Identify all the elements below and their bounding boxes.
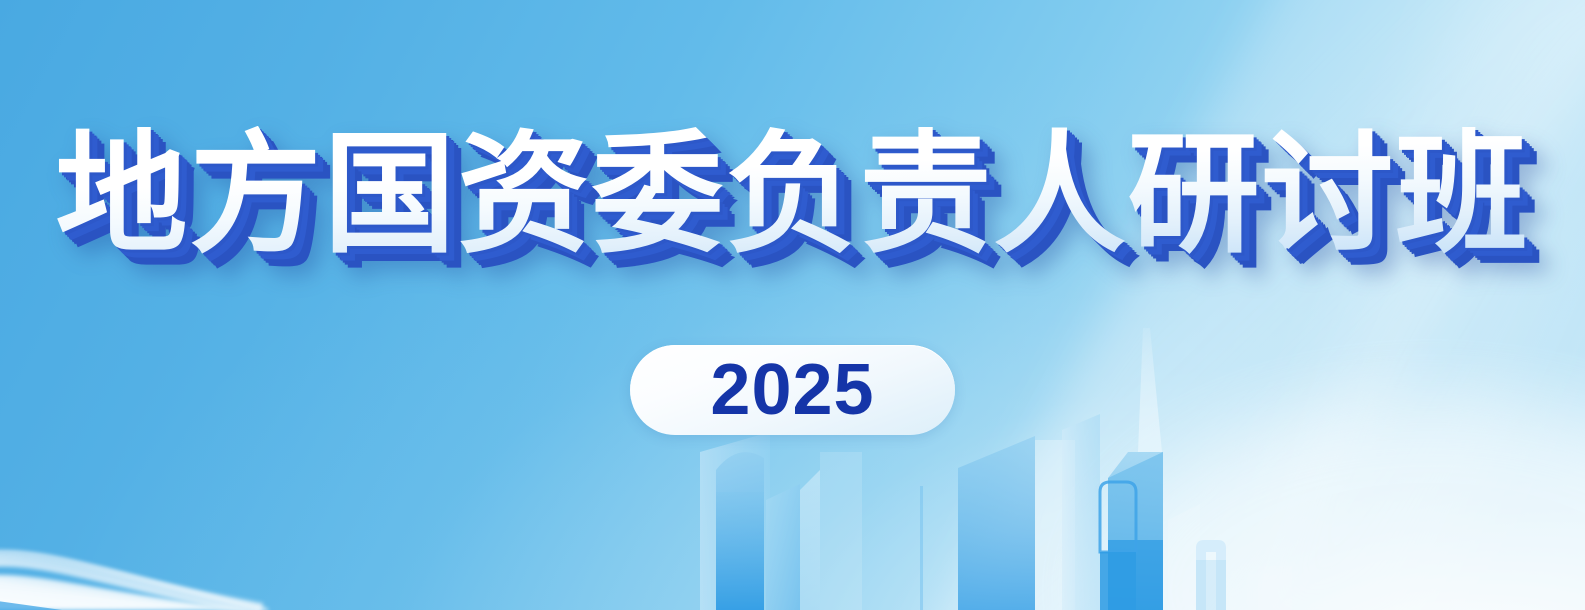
banner-title-container: 地方国资委负责人研讨班: [0, 126, 1585, 265]
city-skyline-decoration: [0, 0, 1585, 610]
event-banner: 地方国资委负责人研讨班 2025: [0, 0, 1585, 610]
page-title: 地方国资委负责人研讨班: [56, 126, 1530, 265]
year-badge-label: 2025: [710, 354, 874, 426]
year-badge-container: 2025: [0, 345, 1585, 435]
corner-swoosh-decoration: [0, 0, 1585, 610]
year-badge: 2025: [630, 345, 955, 435]
light-ray-decoration: [0, 0, 1585, 610]
